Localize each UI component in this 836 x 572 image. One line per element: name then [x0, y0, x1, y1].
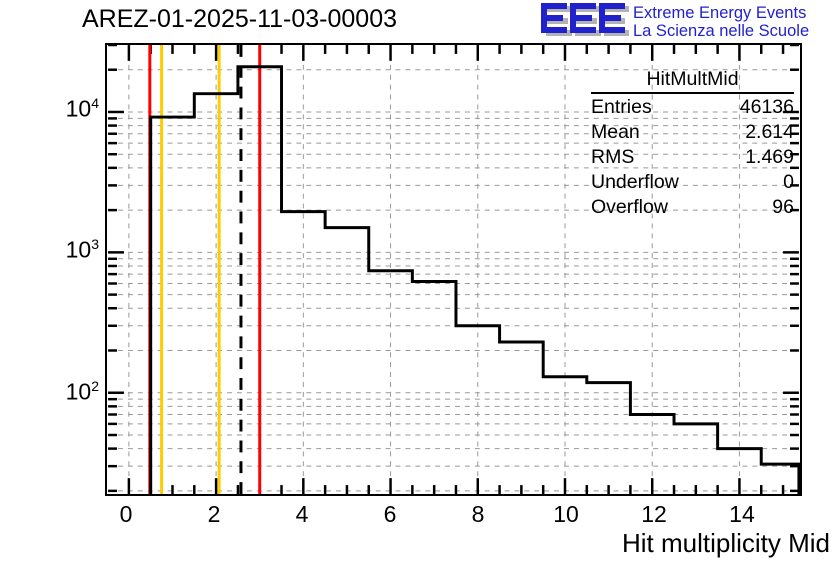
stats-row-key: Mean [591, 120, 640, 145]
x-tick-label: 10 [536, 501, 596, 528]
stats-row-key: Underflow [591, 170, 679, 195]
stats-row-value: 2.614 [745, 120, 794, 145]
stats-row-value: 0 [783, 170, 794, 195]
x-tick-label: 0 [96, 501, 156, 528]
y-tick-label: 104 [23, 95, 99, 123]
stats-row: Underflow0 [591, 170, 794, 195]
stats-row-key: RMS [591, 145, 634, 170]
eee-logo-line1: Extreme Energy Events [633, 4, 833, 22]
x-tick-label: 4 [272, 501, 332, 528]
x-tick-label: 8 [448, 501, 508, 528]
stats-row-value: 96 [772, 195, 794, 220]
y-tick-label: 103 [23, 236, 99, 264]
eee-logo-line2: La Scienza nelle Scuole [633, 22, 833, 40]
eee-logo-mark [539, 3, 629, 39]
x-axis-title: Hit multiplicity Mid [622, 528, 830, 559]
stats-box: HitMultMid Entries46136Mean2.614RMS1.469… [591, 68, 794, 220]
x-tick-label: 14 [712, 501, 772, 528]
stats-row-value: 1.469 [745, 145, 794, 170]
stats-row: Entries46136 [591, 95, 794, 120]
eee-logo: Extreme Energy Events La Scienza nelle S… [539, 2, 831, 44]
page-title: AREZ-01-2025-11-03-00003 [82, 5, 397, 34]
stats-row: Overflow96 [591, 195, 794, 220]
stats-row-key: Overflow [591, 195, 668, 220]
stats-row-key: Entries [591, 95, 652, 120]
eee-logo-text: Extreme Energy Events La Scienza nelle S… [633, 4, 833, 40]
y-tick-label: 102 [23, 378, 99, 406]
x-tick-label: 6 [360, 501, 420, 528]
stats-row: RMS1.469 [591, 145, 794, 170]
stats-box-rows: Entries46136Mean2.614RMS1.469Underflow0O… [591, 95, 794, 220]
stats-row-value: 46136 [740, 95, 794, 120]
stats-row: Mean2.614 [591, 120, 794, 145]
stats-box-title: HitMultMid [591, 68, 794, 94]
x-tick-label: 2 [184, 501, 244, 528]
x-tick-label: 12 [624, 501, 684, 528]
